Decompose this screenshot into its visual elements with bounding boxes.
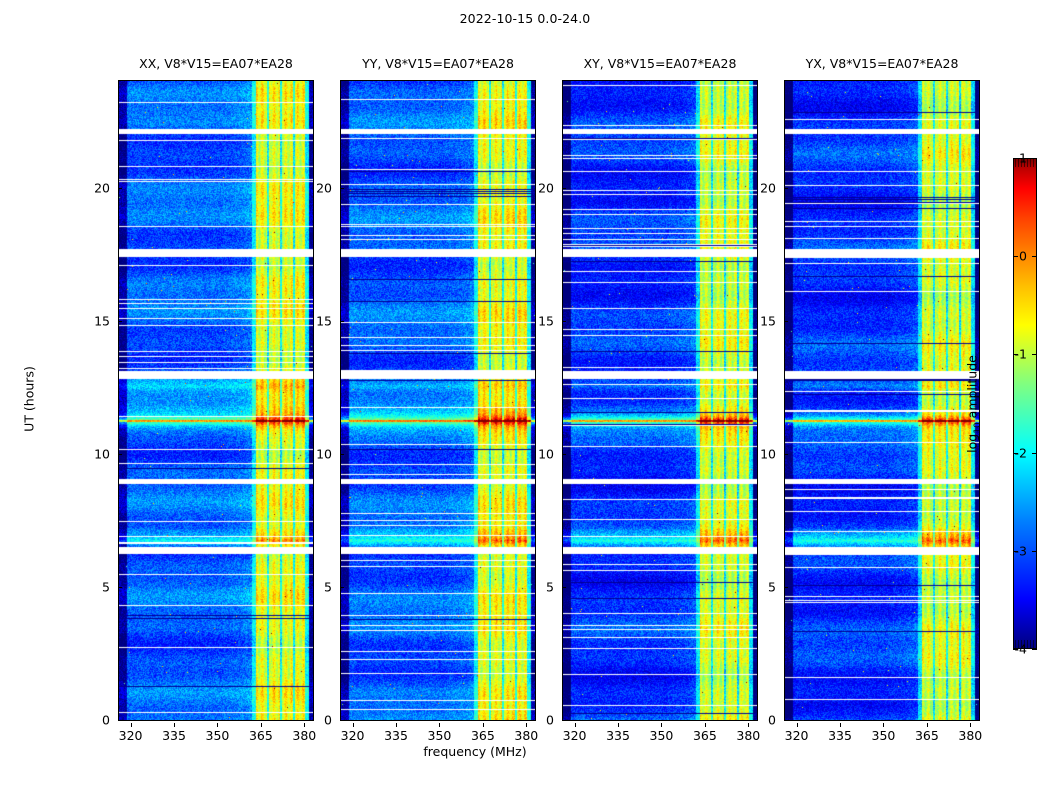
y-tick-label: 15 — [538, 313, 554, 328]
plot-area[interactable] — [562, 80, 758, 721]
x-tick-mark — [174, 723, 175, 727]
x-tick-label: 380 — [958, 728, 982, 743]
x-tick-mark — [661, 723, 662, 727]
y-tick-mark — [562, 587, 566, 588]
colorbar-tick-mark — [1013, 453, 1018, 454]
x-ticks: 320335350365380 — [118, 723, 314, 743]
panel-title: XY, V8*V15=EA07*EA28 — [584, 56, 737, 71]
x-tick-mark — [261, 723, 262, 727]
colorbar-tick-mark — [1013, 649, 1018, 650]
x-tick-label: 335 — [828, 728, 852, 743]
x-tick-mark — [840, 723, 841, 727]
colorbar-tick-mark — [1032, 649, 1037, 650]
colorbar-tick-mark — [1032, 551, 1037, 552]
x-tick-label: 320 — [563, 728, 587, 743]
panel-xx: XX, V8*V15=EA07*EA2832033535036538005101… — [118, 80, 314, 721]
colorbar-tick-mark — [1032, 354, 1037, 355]
colorbar-label: log10 amplitude — [965, 159, 983, 650]
y-tick-label: 0 — [102, 713, 110, 728]
y-tick-label: 10 — [316, 446, 332, 461]
x-ticks: 320335350365380 — [340, 723, 536, 743]
x-axis-label: frequency (MHz) — [0, 744, 950, 759]
y-tick-label: 10 — [760, 446, 776, 461]
x-tick-mark — [748, 723, 749, 727]
x-tick-label: 350 — [428, 728, 452, 743]
x-tick-mark — [304, 723, 305, 727]
y-tick-label: 0 — [768, 713, 776, 728]
x-tick-mark — [526, 723, 527, 727]
colorbar-tick-mark — [1032, 256, 1037, 257]
y-tick-mark — [562, 188, 566, 189]
x-tick-label: 320 — [785, 728, 809, 743]
panel-title: XX, V8*V15=EA07*EA28 — [139, 56, 293, 71]
y-tick-mark — [784, 454, 788, 455]
colorbar-tick-mark — [1013, 551, 1018, 552]
y-tick-label: 5 — [102, 579, 110, 594]
y-tick-mark — [562, 321, 566, 322]
x-tick-label: 320 — [119, 728, 143, 743]
y-tick-label: 5 — [546, 579, 554, 594]
x-tick-mark — [217, 723, 218, 727]
panel-xy: XY, V8*V15=EA07*EA2832033535036538005101… — [562, 80, 758, 721]
y-tick-mark — [784, 188, 788, 189]
y-tick-mark — [118, 720, 122, 721]
x-tick-label: 365 — [249, 728, 273, 743]
x-tick-mark — [396, 723, 397, 727]
x-tick-label: 320 — [341, 728, 365, 743]
x-ticks: 320335350365380 — [562, 723, 758, 743]
waterfall-image — [119, 81, 313, 720]
y-tick-mark — [118, 587, 122, 588]
x-tick-label: 335 — [384, 728, 408, 743]
figure-suptitle: 2022-10-15 0.0-24.0 — [0, 11, 1050, 26]
plot-area[interactable] — [784, 80, 980, 721]
y-tick-mark — [562, 720, 566, 721]
x-tick-label: 380 — [736, 728, 760, 743]
x-tick-mark — [705, 723, 706, 727]
y-tick-label: 10 — [94, 446, 110, 461]
waterfall-image — [563, 81, 757, 720]
x-tick-label: 380 — [514, 728, 538, 743]
waterfall-image — [785, 81, 979, 720]
x-tick-mark — [353, 723, 354, 727]
y-tick-label: 0 — [324, 713, 332, 728]
y-tick-mark — [784, 321, 788, 322]
x-tick-mark — [439, 723, 440, 727]
x-tick-label: 365 — [693, 728, 717, 743]
x-tick-mark — [883, 723, 884, 727]
y-tick-mark — [784, 720, 788, 721]
y-tick-label: 0 — [546, 713, 554, 728]
colorbar-tick-mark — [1032, 158, 1037, 159]
panel-yx: YX, V8*V15=EA07*EA2832033535036538005101… — [784, 80, 980, 721]
y-tick-mark — [340, 587, 344, 588]
x-tick-label: 365 — [915, 728, 939, 743]
colorbar-tick-mark — [1013, 354, 1018, 355]
y-tick-label: 5 — [324, 579, 332, 594]
x-tick-label: 350 — [206, 728, 230, 743]
x-tick-mark — [483, 723, 484, 727]
figure-canvas: 2022-10-15 0.0-24.0 XX, V8*V15=EA07*EA28… — [0, 0, 1050, 800]
x-tick-mark — [131, 723, 132, 727]
y-tick-label: 20 — [760, 180, 776, 195]
colorbar-label-subscript: 10 — [973, 422, 983, 433]
x-tick-mark — [618, 723, 619, 727]
x-tick-label: 335 — [606, 728, 630, 743]
y-tick-mark — [784, 587, 788, 588]
y-tick-mark — [340, 454, 344, 455]
y-tick-label: 5 — [768, 579, 776, 594]
x-tick-mark — [575, 723, 576, 727]
y-tick-label: 15 — [760, 313, 776, 328]
x-tick-label: 365 — [471, 728, 495, 743]
y-tick-label: 20 — [538, 180, 554, 195]
y-tick-label: 10 — [538, 446, 554, 461]
y-tick-label: 15 — [94, 313, 110, 328]
colorbar-label-base: log — [965, 434, 980, 453]
panel-yy: YY, V8*V15=EA07*EA2832033535036538005101… — [340, 80, 536, 721]
colorbar-label-tail: amplitude — [965, 355, 980, 422]
x-tick-mark — [797, 723, 798, 727]
plot-area[interactable] — [340, 80, 536, 721]
y-tick-label: 20 — [94, 180, 110, 195]
y-tick-mark — [118, 188, 122, 189]
x-tick-label: 335 — [162, 728, 186, 743]
x-tick-label: 350 — [872, 728, 896, 743]
colorbar-tick-mark — [1013, 158, 1018, 159]
x-tick-mark — [970, 723, 971, 727]
colorbar-tick-mark — [1013, 256, 1018, 257]
y-tick-mark — [340, 188, 344, 189]
x-tick-label: 380 — [292, 728, 316, 743]
x-ticks: 320335350365380 — [784, 723, 980, 743]
colorbar — [1013, 158, 1037, 649]
x-tick-label: 350 — [650, 728, 674, 743]
y-tick-mark — [562, 454, 566, 455]
y-tick-label: 20 — [316, 180, 332, 195]
panel-title: YX, V8*V15=EA07*EA28 — [806, 56, 959, 71]
plot-area[interactable] — [118, 80, 314, 721]
y-tick-mark — [340, 720, 344, 721]
panel-title: YY, V8*V15=EA07*EA28 — [362, 56, 514, 71]
colorbar-tick-mark — [1032, 453, 1037, 454]
y-tick-mark — [340, 321, 344, 322]
y-tick-label: 15 — [316, 313, 332, 328]
y-axis-label: UT (hours) — [22, 79, 40, 720]
y-tick-mark — [118, 321, 122, 322]
y-tick-mark — [118, 454, 122, 455]
waterfall-image — [341, 81, 535, 720]
x-tick-mark — [927, 723, 928, 727]
